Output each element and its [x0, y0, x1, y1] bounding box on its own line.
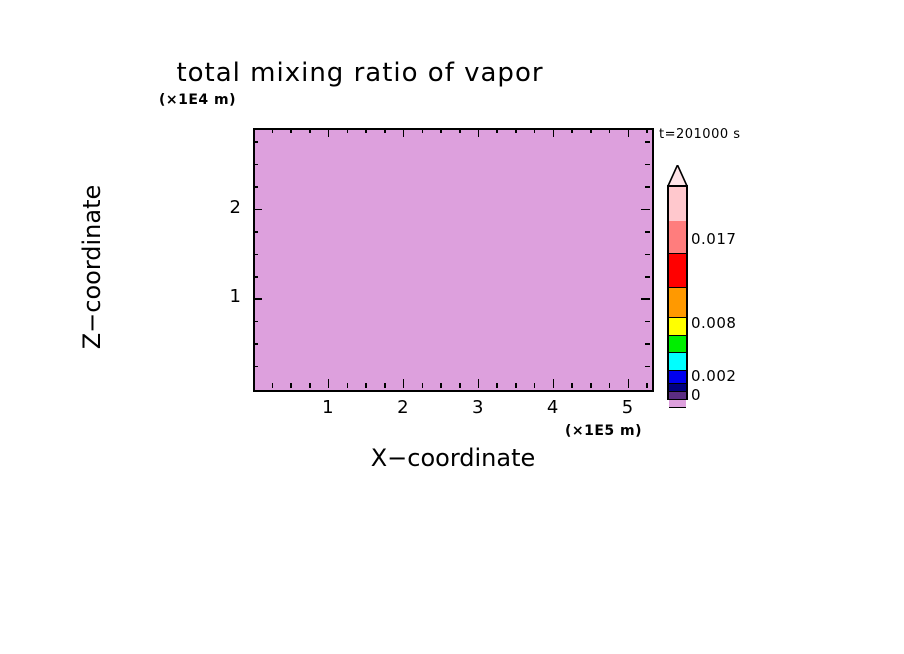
- x-minor-tick: [272, 383, 274, 388]
- colorbar-band: [669, 318, 686, 336]
- x-minor-tick: [290, 383, 292, 388]
- y-tick-label: 2: [201, 197, 241, 218]
- x-minor-tick: [496, 383, 498, 388]
- x-minor-tick: [384, 383, 386, 388]
- y-minor-tick-right: [645, 366, 650, 368]
- x-major-tick-top: [628, 128, 630, 137]
- y-major-tick-right: [641, 209, 650, 211]
- x-minor-tick-top: [571, 128, 573, 133]
- colorbar-extend-arrow: [667, 165, 688, 187]
- x-minor-tick-top: [590, 128, 592, 133]
- colorbar-band: [669, 187, 686, 221]
- x-major-tick: [478, 379, 480, 388]
- y-minor-tick-right: [645, 343, 650, 345]
- x-major-tick-top: [553, 128, 555, 137]
- y-minor-tick-right: [645, 186, 650, 188]
- colorbar-band: [669, 384, 686, 392]
- x-minor-tick-top: [459, 128, 461, 133]
- x-minor-tick: [571, 383, 573, 388]
- y-minor-tick: [253, 231, 258, 233]
- colorbar-band: [669, 392, 686, 399]
- x-minor-tick: [365, 383, 367, 388]
- colorbar-band: [669, 221, 686, 255]
- x-minor-tick: [646, 383, 648, 388]
- x-major-tick-top: [328, 128, 330, 137]
- colorbar-band: [669, 371, 686, 384]
- x-axis-unit-label: (×1E5 m): [565, 423, 642, 439]
- x-minor-tick-top: [290, 128, 292, 133]
- colorbar-tick-label: 0.008: [691, 314, 736, 332]
- colorbar-tick-label: 0.017: [691, 230, 736, 248]
- x-minor-tick: [609, 383, 611, 388]
- x-minor-tick: [534, 383, 536, 388]
- x-tick-label: 5: [608, 397, 648, 418]
- x-minor-tick-top: [496, 128, 498, 133]
- y-minor-tick: [253, 186, 258, 188]
- y-axis-title: Z−coordinate: [78, 157, 106, 377]
- contour-field-canvas: [255, 130, 652, 390]
- contour-plot-area: [253, 128, 654, 392]
- colorbar-band: [669, 400, 686, 408]
- x-major-tick: [403, 379, 405, 388]
- x-minor-tick-top: [534, 128, 536, 133]
- y-minor-tick-right: [645, 321, 650, 323]
- y-minor-tick: [253, 343, 258, 345]
- y-minor-tick: [253, 321, 258, 323]
- y-axis-unit-label: (×1E4 m): [159, 92, 236, 108]
- x-major-tick-top: [403, 128, 405, 137]
- x-minor-tick: [459, 383, 461, 388]
- y-minor-tick-right: [645, 276, 650, 278]
- colorbar-band: [669, 353, 686, 371]
- y-minor-tick: [253, 141, 258, 143]
- x-axis-title: X−coordinate: [273, 444, 633, 472]
- x-minor-tick: [309, 383, 311, 388]
- colorbar-band: [669, 336, 686, 354]
- time-annotation: t=201000 s: [659, 127, 741, 142]
- x-minor-tick-top: [422, 128, 424, 133]
- x-minor-tick-top: [384, 128, 386, 133]
- x-minor-tick-top: [272, 128, 274, 133]
- x-major-tick-top: [478, 128, 480, 137]
- x-tick-label: 2: [383, 397, 423, 418]
- x-minor-tick: [422, 383, 424, 388]
- y-minor-tick-right: [645, 141, 650, 143]
- x-minor-tick-top: [309, 128, 311, 133]
- y-minor-tick: [253, 366, 258, 368]
- x-tick-label: 3: [458, 397, 498, 418]
- chart-title-text: total mixing ratio of vapor: [176, 58, 543, 88]
- x-minor-tick-top: [347, 128, 349, 133]
- colorbar: [667, 185, 688, 400]
- y-minor-tick: [253, 164, 258, 166]
- y-major-tick: [253, 209, 262, 211]
- x-minor-tick: [590, 383, 592, 388]
- x-minor-tick: [515, 383, 517, 388]
- x-minor-tick-top: [365, 128, 367, 133]
- y-major-tick-right: [641, 298, 650, 300]
- colorbar-band: [669, 288, 686, 317]
- x-tick-label: 1: [308, 397, 348, 418]
- x-minor-tick-top: [515, 128, 517, 133]
- x-tick-label: 4: [533, 397, 573, 418]
- y-minor-tick-right: [645, 254, 650, 256]
- y-major-tick: [253, 298, 262, 300]
- y-tick-label: 1: [201, 286, 241, 307]
- x-minor-tick: [440, 383, 442, 388]
- x-major-tick: [328, 379, 330, 388]
- x-major-tick: [628, 379, 630, 388]
- x-minor-tick-top: [440, 128, 442, 133]
- x-major-tick: [553, 379, 555, 388]
- colorbar-tick-label: 0: [691, 386, 701, 404]
- x-minor-tick-top: [646, 128, 648, 133]
- y-minor-tick: [253, 276, 258, 278]
- colorbar-band: [669, 254, 686, 288]
- colorbar-tick-label: 0.002: [691, 367, 736, 385]
- x-minor-tick-top: [609, 128, 611, 133]
- y-minor-tick: [253, 254, 258, 256]
- y-minor-tick-right: [645, 231, 650, 233]
- x-minor-tick: [347, 383, 349, 388]
- chart-title: total mixing ratio of vapor: [0, 58, 904, 88]
- y-minor-tick-right: [645, 164, 650, 166]
